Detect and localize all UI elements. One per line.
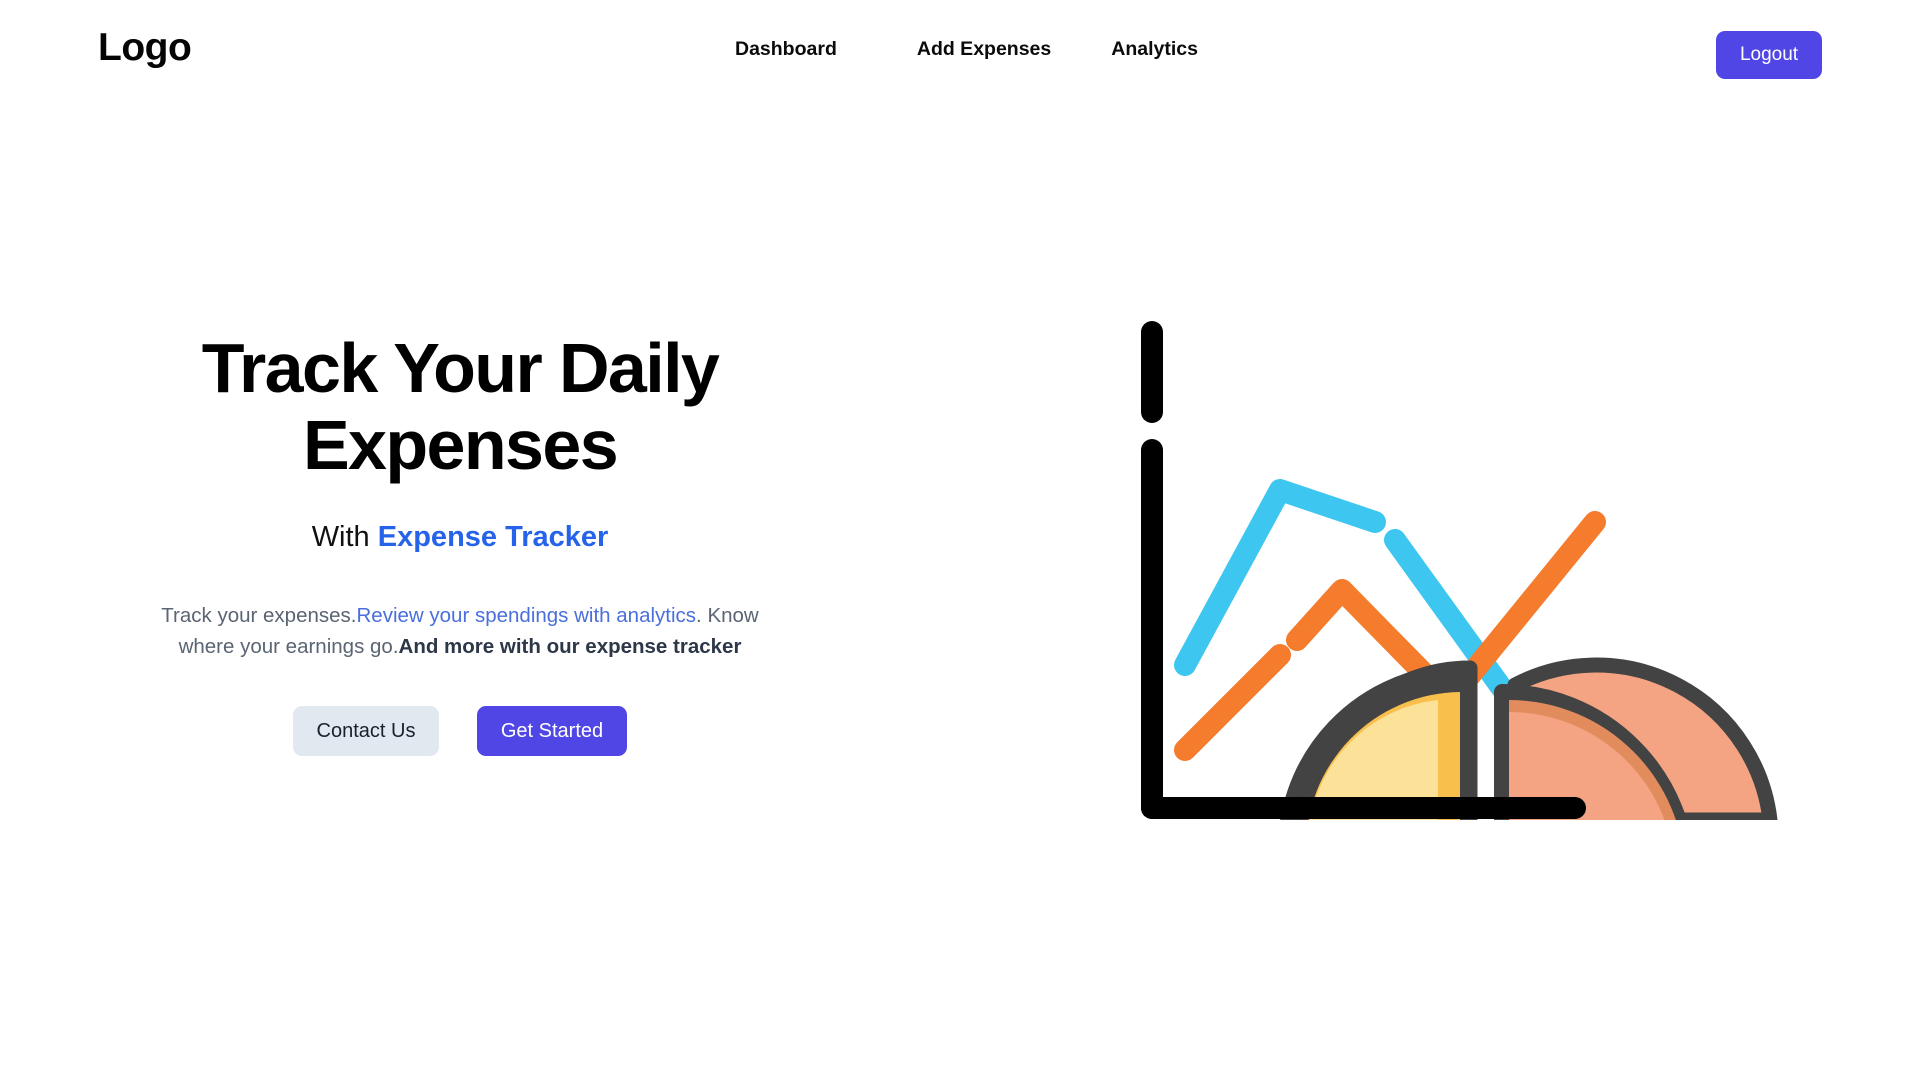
nav-item-dashboard[interactable]: Dashboard (735, 40, 837, 60)
page-title: Track Your Daily Expenses (130, 330, 790, 484)
get-started-button[interactable]: Get Started (477, 706, 627, 756)
nav-item-add-expenses[interactable]: Add Expenses (917, 40, 1051, 60)
hero-description-part1: Track your expenses. (161, 604, 356, 627)
hero-description: Track your expenses.Review your spending… (130, 601, 790, 663)
hero-description-strong: And more with our expense tracker (399, 635, 742, 658)
hero-text-block: Track Your Daily Expenses With Expense T… (130, 330, 790, 756)
primary-nav: Dashboard Add Expenses Analytics (735, 40, 1198, 60)
hero-action-buttons: Contact Us Get Started (130, 706, 790, 756)
contact-us-button[interactable]: Contact Us (293, 706, 439, 756)
page-title-line-1: Track Your Daily (202, 329, 719, 407)
logout-button[interactable]: Logout (1716, 31, 1822, 79)
top-navigation-bar: Logo Dashboard Add Expenses Analytics Lo… (0, 0, 1920, 110)
hero-subtitle-accent: Expense Tracker (378, 521, 609, 553)
analytics-link[interactable]: Review your spendings with analytics (356, 604, 696, 627)
hero-illustration-overlay (1130, 300, 1820, 820)
hero-subtitle: With Expense Tracker (130, 520, 790, 555)
hero-subtitle-prefix: With (312, 521, 378, 553)
page-title-line-2: Expenses (303, 406, 617, 484)
pie-overlay-svg (1130, 300, 1820, 820)
nav-item-analytics[interactable]: Analytics (1111, 40, 1198, 60)
brand-logo[interactable]: Logo (98, 28, 191, 67)
